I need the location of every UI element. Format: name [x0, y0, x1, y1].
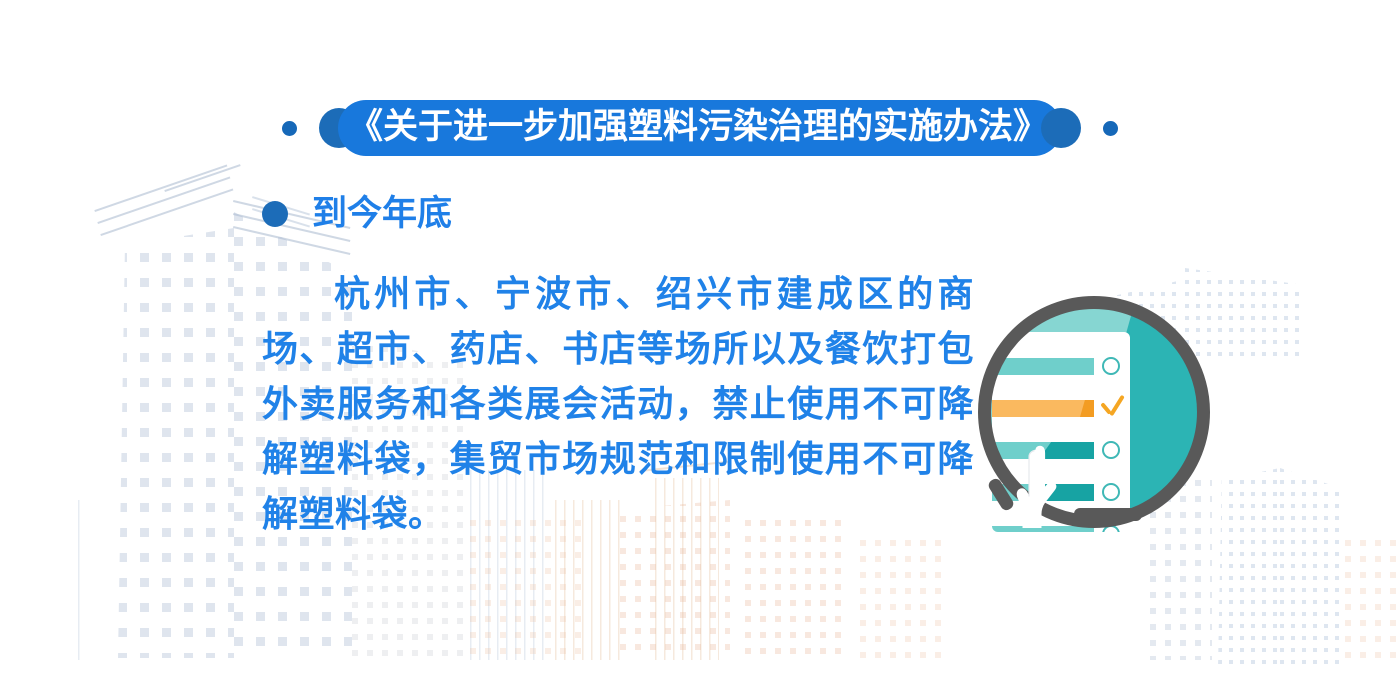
ring-tail	[1074, 508, 1142, 521]
building-windows	[118, 228, 234, 658]
pointing-hand-icon	[1014, 444, 1074, 528]
roof-line	[97, 177, 230, 224]
title-banner: 《关于进一步加强塑料污染治理的实施办法》	[0, 98, 1400, 158]
page-title: 《关于进一步加强塑料污染治理的实施办法》	[348, 109, 1048, 147]
building-windows	[860, 540, 950, 660]
building-windows	[470, 520, 590, 660]
roof-line	[100, 189, 233, 236]
roof-line	[94, 165, 227, 212]
building-windows	[745, 520, 845, 660]
circle-ring	[978, 296, 1210, 528]
roof-line	[164, 164, 240, 192]
bullet-dot-icon	[262, 201, 288, 227]
decorative-dot-large-right	[1041, 108, 1081, 148]
subtitle-text: 到今年底	[312, 196, 452, 231]
building-stripes	[78, 500, 84, 660]
checklist-circle-graphic	[978, 296, 1210, 528]
building-windows	[1345, 540, 1400, 660]
decorative-dot-small-left	[282, 121, 297, 136]
decorative-dot-small-right	[1103, 121, 1118, 136]
subtitle-row: 到今年底	[262, 196, 452, 231]
building-windows	[1218, 468, 1280, 668]
building-windows	[1280, 468, 1340, 668]
title-bar: 《关于进一步加强塑料污染治理的实施办法》	[338, 100, 1062, 156]
body-paragraph: 杭州市、宁波市、绍兴市建成区的商场、超市、药店、书店等场所以及餐饮打包外卖服务和…	[262, 266, 974, 541]
